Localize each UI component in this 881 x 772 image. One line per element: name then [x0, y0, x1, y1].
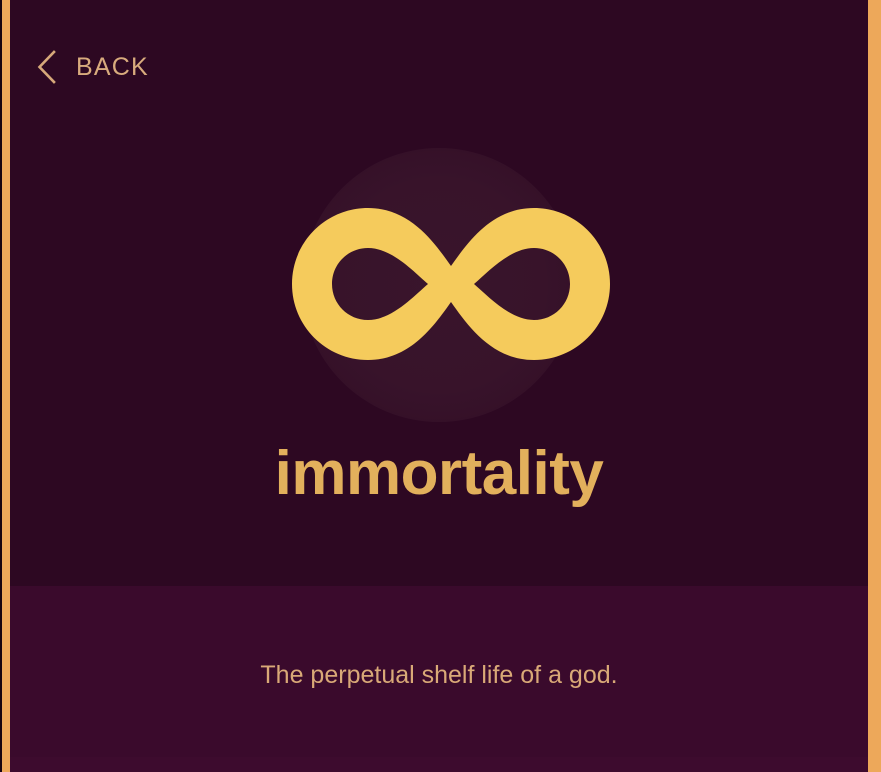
footer-strip [10, 757, 868, 772]
back-button[interactable]: BACK [28, 40, 157, 94]
left-accent-strip [2, 0, 10, 772]
description-text: The perpetual shelf life of a god. [10, 660, 868, 690]
back-button-label: BACK [76, 55, 149, 80]
right-accent-strip [868, 0, 881, 772]
chevron-left-icon [36, 50, 58, 84]
infinity-icon [292, 208, 610, 360]
left-edge-shadow [0, 0, 2, 772]
description-panel: The perpetual shelf life of a god. [10, 586, 868, 757]
app-root: BACK immortality The perpetual shelf lif… [0, 0, 881, 772]
page-title: immortality [10, 440, 868, 508]
